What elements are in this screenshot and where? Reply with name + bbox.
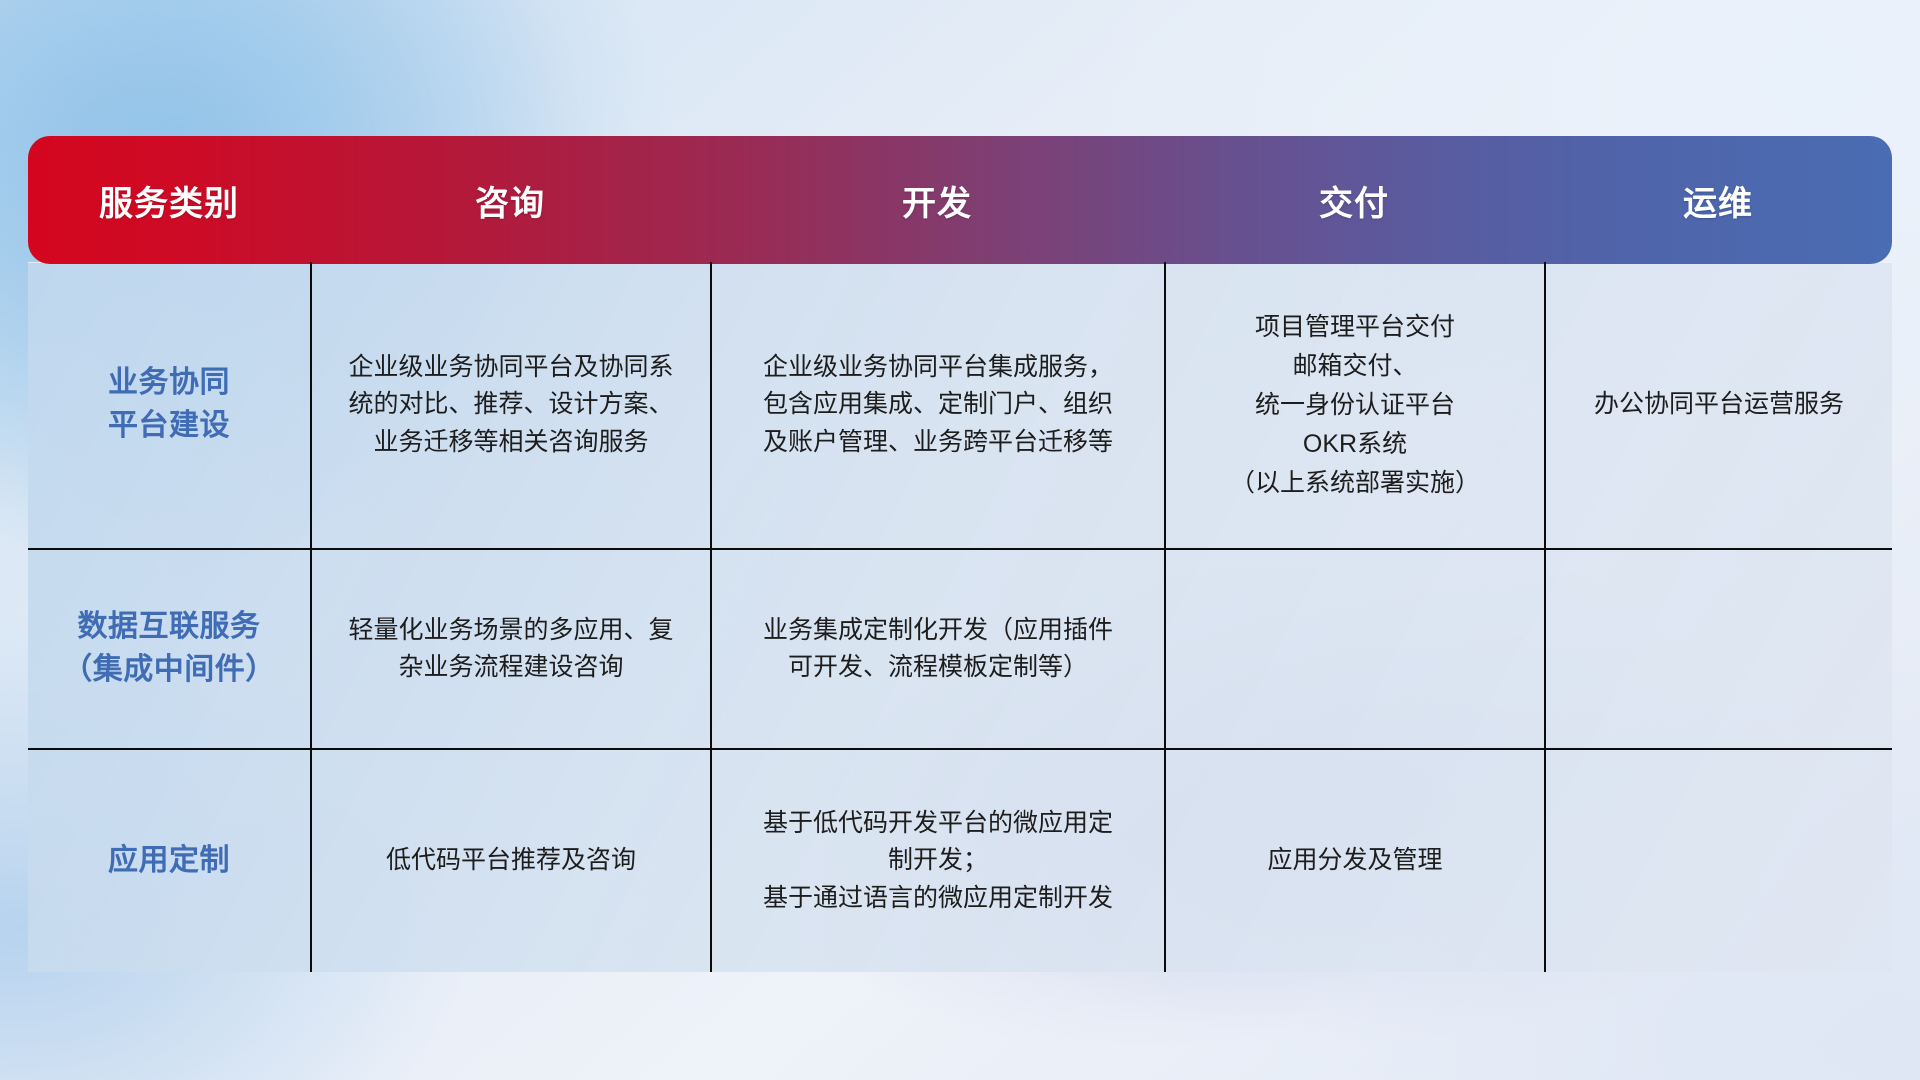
row-delivery-cell: [1164, 550, 1544, 748]
row-category-label: 数据互联服务 （集成中间件）: [62, 606, 276, 691]
cell-text: 轻量化业务场景的多应用、复 杂业务流程建设咨询: [348, 612, 673, 687]
cell-text: 企业级业务协同平台集成服务， 包含应用集成、定制门户、组织 及账户管理、业务跨平…: [763, 349, 1113, 462]
row-development-cell: 企业级业务协同平台集成服务， 包含应用集成、定制门户、组织 及账户管理、业务跨平…: [710, 262, 1164, 548]
cell-text: 业务集成定制化开发（应用插件 可开发、流程模板定制等）: [763, 612, 1113, 687]
row-category-cell: 业务协同 平台建设: [28, 262, 310, 548]
row-consulting-cell: 轻量化业务场景的多应用、复 杂业务流程建设咨询: [310, 550, 710, 748]
cell-text: 应用分发及管理: [1267, 842, 1442, 880]
row-development-cell: 基于低代码开发平台的微应用定 制开发； 基于通过语言的微应用定制开发: [710, 750, 1164, 972]
row-operations-cell: 办公协同平台运营服务: [1544, 262, 1892, 548]
row-category-label: 业务协同 平台建设: [108, 362, 230, 447]
table-row: 业务协同 平台建设 企业级业务协同平台及协同系 统的对比、推荐、设计方案、 业务…: [28, 262, 1892, 550]
column-header-category: 服务类别: [28, 176, 310, 225]
row-consulting-cell: 低代码平台推荐及咨询: [310, 750, 710, 972]
column-header-development: 开发: [710, 176, 1164, 225]
column-header-operations: 运维: [1544, 176, 1892, 225]
cell-text: 低代码平台推荐及咨询: [386, 842, 636, 880]
cell-text: 办公协同平台运营服务: [1594, 386, 1844, 424]
cell-text: 基于低代码开发平台的微应用定 制开发； 基于通过语言的微应用定制开发: [763, 805, 1113, 918]
table-body: 业务协同 平台建设 企业级业务协同平台及协同系 统的对比、推荐、设计方案、 业务…: [28, 262, 1892, 972]
cell-text: 项目管理平台交付 邮箱交付、 统一身份认证平台 OKR系统 （以上系统部署实施）: [1230, 308, 1480, 503]
row-category-cell: 数据互联服务 （集成中间件）: [28, 550, 310, 748]
column-header-delivery: 交付: [1164, 176, 1544, 225]
row-category-cell: 应用定制: [28, 750, 310, 972]
table-header-row: 服务类别 咨询 开发 交付 运维: [28, 136, 1892, 264]
cell-text: 企业级业务协同平台及协同系 统的对比、推荐、设计方案、 业务迁移等相关咨询服务: [348, 349, 673, 462]
row-consulting-cell: 企业级业务协同平台及协同系 统的对比、推荐、设计方案、 业务迁移等相关咨询服务: [310, 262, 710, 548]
row-operations-cell: [1544, 750, 1892, 972]
row-operations-cell: [1544, 550, 1892, 748]
row-development-cell: 业务集成定制化开发（应用插件 可开发、流程模板定制等）: [710, 550, 1164, 748]
row-delivery-cell: 应用分发及管理: [1164, 750, 1544, 972]
table-row: 数据互联服务 （集成中间件） 轻量化业务场景的多应用、复 杂业务流程建设咨询 业…: [28, 550, 1892, 750]
column-header-consulting: 咨询: [310, 176, 710, 225]
row-category-label: 应用定制: [108, 840, 230, 883]
service-matrix-table: 服务类别 咨询 开发 交付 运维 业务协同 平台建设 企业级业务协同平台及协同系…: [28, 136, 1892, 972]
row-delivery-cell: 项目管理平台交付 邮箱交付、 统一身份认证平台 OKR系统 （以上系统部署实施）: [1164, 262, 1544, 548]
table-row: 应用定制 低代码平台推荐及咨询 基于低代码开发平台的微应用定 制开发； 基于通过…: [28, 750, 1892, 972]
